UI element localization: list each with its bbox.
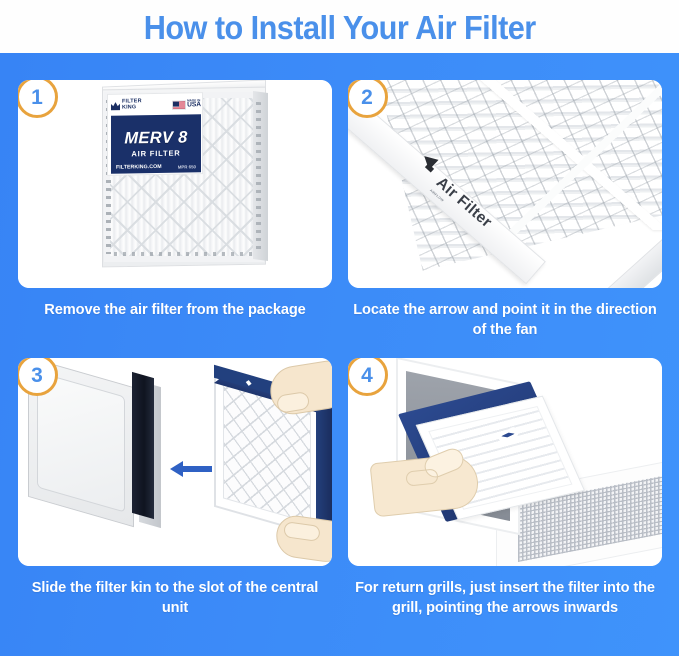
return-grill-insert-illustration	[348, 358, 662, 566]
crown-icon	[111, 101, 120, 110]
label-navy-panel: MERV 8 AIR FILTER FILTERKING.COM MPR 650	[111, 114, 201, 174]
step-3-card: ◆ 3	[18, 358, 332, 566]
step-1-caption: Remove the air filter from the package	[18, 301, 332, 321]
brand-name: FILTER KING	[122, 100, 142, 112]
mpr-rating: MPR 650	[178, 164, 196, 169]
hand-lower	[273, 513, 332, 565]
step-1-card: FILTER KING MADE IN USA	[18, 80, 332, 288]
usa-flag-icon	[172, 100, 186, 109]
step-4-caption: For return grills, just insert the filte…	[348, 579, 662, 618]
label-footer: FILTERKING.COM MPR 650	[111, 163, 201, 171]
website-text: FILTERKING.COM	[116, 164, 162, 171]
infographic-page: How to Install Your Air Filter	[0, 0, 679, 656]
step-3: ◆ 3 Slide the filter kin to the slot of …	[18, 358, 332, 618]
brand-line-2: KING	[122, 105, 142, 111]
product-type: AIR FILTER	[131, 150, 180, 158]
page-title: How to Install Your Air Filter	[144, 11, 536, 44]
country-text: USA	[187, 101, 201, 108]
step-4: 4 For return grills, just insert the fil…	[348, 358, 662, 618]
steps-grid: FILTER KING MADE IN USA	[0, 53, 679, 656]
step-3-caption: Slide the filter kin to the slot of the …	[18, 579, 332, 618]
step-2: Air Filter AIRFLOW 2 Locate the arrow an…	[348, 80, 662, 340]
header: How to Install Your Air Filter	[0, 0, 679, 53]
step-2-card: Air Filter AIRFLOW 2	[348, 80, 662, 288]
made-in-usa: MADE IN USA	[172, 99, 201, 109]
air-filter-corner-photo: Air Filter AIRFLOW	[348, 80, 662, 288]
merv-rating: MERV 8	[124, 130, 187, 148]
filter-staples-bottom	[114, 252, 254, 256]
step-2-caption: Locate the arrow and point it in the dir…	[348, 301, 662, 340]
unit-filter-slot	[132, 372, 154, 519]
step-1: FILTER KING MADE IN USA	[18, 80, 332, 321]
insert-direction-arrow-icon	[170, 461, 212, 477]
filter-support-bar-2	[498, 80, 662, 240]
filter-sliding-into-unit-illustration: ◆	[18, 358, 332, 566]
air-filter-product-photo: FILTER KING MADE IN USA	[18, 80, 332, 288]
filter-king-logo: FILTER KING	[111, 100, 142, 112]
label-brand-row: FILTER KING MADE IN USA	[111, 96, 201, 114]
product-label: FILTER KING MADE IN USA	[107, 92, 203, 176]
step-4-card: 4	[348, 358, 662, 566]
country-label: MADE IN USA	[187, 99, 201, 109]
filter-staples-right	[256, 102, 261, 253]
unit-inner-panel	[37, 371, 125, 512]
